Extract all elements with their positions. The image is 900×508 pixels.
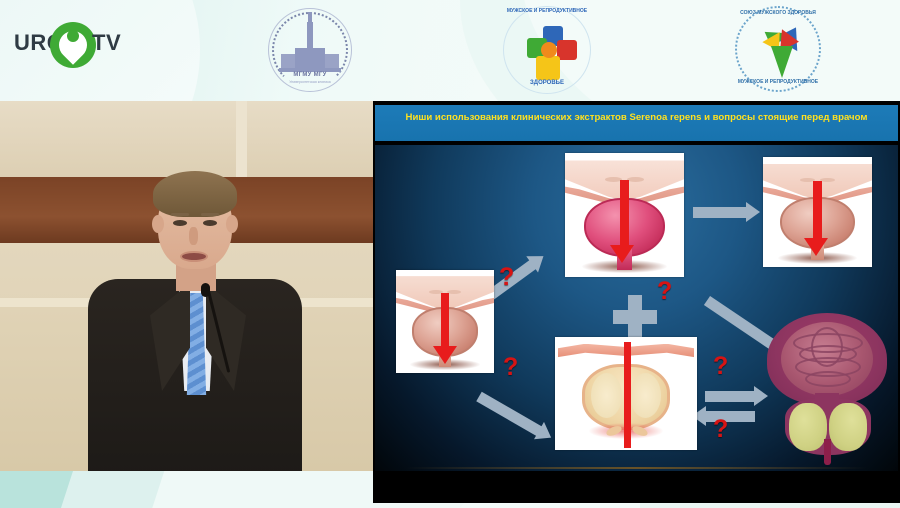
bph-lobe-left [789,403,827,451]
plus-sign-icon [613,295,657,339]
speaker-hair [153,171,237,217]
speaker-brow-right [201,213,219,216]
red-flow-arrow-tip [804,238,828,256]
bladder-trabeculation-4 [805,371,851,387]
speaker-eye-left [173,220,187,226]
puzzle-piece-red-icon [557,40,577,60]
arrow-inflamed-to-treated [693,207,747,218]
pelvis-illustration [763,157,872,267]
msu-building-body [295,48,325,70]
msu-subtitle: Университетская клиника [268,80,352,84]
speaker-video-panel[interactable] [0,101,373,471]
speaker-nose [189,227,198,245]
logo-male-reproductive-health[interactable]: МУЖСКОЕ И РЕПРОДУКТИВНОЕ ЗДОРОВЬЕ [503,6,591,94]
red-flow-arrow-shaft [441,293,449,353]
red-flow-arrow-tip [433,346,457,364]
logo-union-mens-health[interactable]: СОЮЗ МУЖСКОГО ЗДОРОВЬЯ МУЖСКОЕ И РЕПРОДУ… [735,6,821,94]
question-mark-4: ? [503,355,518,380]
footer-slide-overhang [373,471,900,503]
bph-lobe-right [829,403,867,451]
bladder-trabeculation-5 [811,327,843,367]
wall-upper [0,101,373,177]
question-mark-6: ? [713,417,728,442]
question-mark-1: ? [499,265,514,290]
red-flow-arrow-tip [610,245,634,263]
question-mark-3: ? [657,279,672,304]
figure-bladder-prostate-bph [767,313,887,463]
puzzle-head-orange-icon [541,42,557,58]
arrow-normal-to-prostate [476,392,542,437]
page-header: URO TV МГМУ МГУ Университетская клиника … [0,0,900,101]
pelvic-fold-right [627,177,644,182]
puzzle-piece-yellow-icon [536,56,560,80]
speaker-brow-left [171,213,189,216]
speaker-ear-left [152,215,164,233]
urethra-red-channel [624,342,631,448]
red-flow-arrow-shaft [620,180,630,252]
pelvic-fold-right [447,290,461,294]
mrh-bottom-text: ЗДОРОВЬЕ [503,80,591,86]
mrh-top-text: МУЖСКОЕ И РЕПРОДУКТИВНОЕ [503,8,591,14]
prostate-lobe-left [591,373,622,418]
question-mark-5: ? [713,354,728,379]
figure-inflamed-bladder [565,153,684,277]
slide-diagram-canvas: ? ? ? ? ? ? [375,145,898,475]
union-top-text: СОЮЗ МУЖСКОГО ЗДОРОВЬЯ [735,10,821,16]
figure-normal-bladder [396,270,494,373]
speaker-ear-right [226,215,238,233]
speaker-eye-right [203,220,217,226]
pelvis-illustration [565,153,684,277]
union-stem-icon [771,46,793,78]
pelvis-illustration [396,270,494,373]
logo-urotv[interactable]: URO TV [14,20,134,70]
bph-urethra-stem [824,439,831,465]
slide-title: Ниши использования клинических экстракто… [375,105,898,141]
figure-prostate-cross-section [555,337,697,450]
urotv-text-right: TV [92,30,121,56]
screen-root: URO TV МГМУ МГУ Университетская клиника … [0,0,900,508]
logo-msu-university-clinic[interactable]: МГМУ МГУ Университетская клиника [268,8,354,92]
figure-treated-bladder [763,157,872,267]
presentation-slide-panel[interactable]: Ниши использования клинических экстракто… [373,101,900,503]
page-footer [0,471,900,508]
red-flow-arrow-shaft [813,181,822,245]
arrow-prostate-to-bph [705,391,755,402]
speaker-mouth [180,251,208,262]
msu-label: МГМУ МГУ [268,72,352,78]
union-bottom-text: МУЖСКОЕ И РЕПРОДУКТИВНОЕ [735,79,821,85]
leaf-circle-icon [50,22,96,68]
prostate-illustration [555,337,697,450]
